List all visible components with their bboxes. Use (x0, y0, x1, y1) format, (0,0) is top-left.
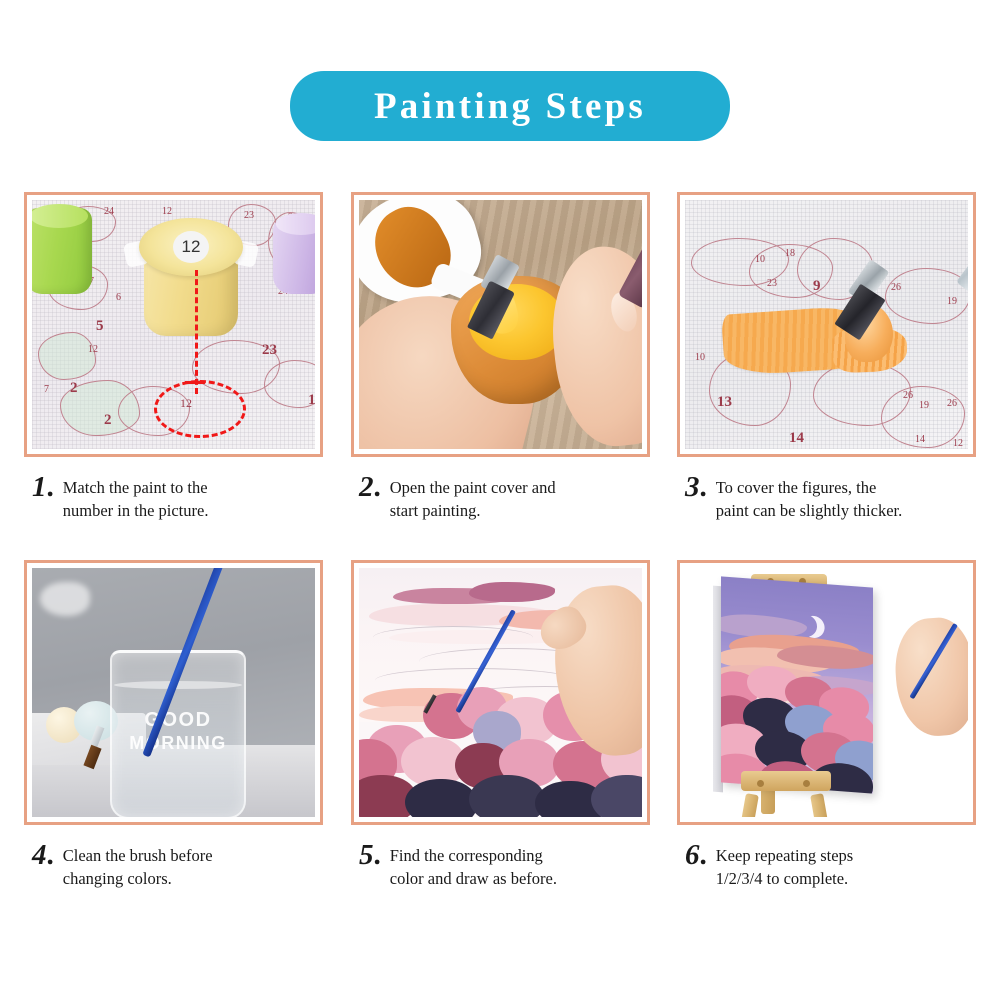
hand-holding-open-paint-pot-image (359, 200, 642, 449)
step-4-text: Clean the brush before changing colors. (63, 841, 213, 891)
step-4-photo-frame: GOOD MORNING (24, 560, 323, 825)
step-5-number: 5. (359, 841, 381, 870)
step-card-3: 10 18 23 9 20 26 19 10 20 13 14 26 19 26… (677, 192, 976, 523)
canvas-leaf-shape (38, 332, 96, 380)
step-2-text: Open the paint cover and start painting. (390, 473, 556, 523)
step-number-value: 6 (685, 839, 700, 871)
canvas-number: 26 (947, 398, 957, 409)
easel-canvas-shelf (741, 771, 831, 791)
canvas-number: 26 (903, 390, 913, 401)
canvas-number: 26 (891, 282, 901, 293)
step-2-caption: 2. Open the paint cover and start painti… (351, 473, 650, 523)
step-1-text: Match the paint to the number in the pic… (63, 473, 209, 523)
purple-paint-pot (273, 218, 315, 294)
painted-band (469, 582, 555, 602)
step-2-photo-frame (351, 192, 650, 457)
step-4-number: 4. (32, 841, 54, 870)
step-number-value: 4 (32, 839, 47, 871)
easel-screw (757, 780, 764, 787)
blossom-cluster (405, 779, 477, 817)
canvas-number: 9 (813, 278, 821, 295)
brush-in-glass-of-water-image: GOOD MORNING (32, 568, 315, 817)
step-6-number: 6. (685, 841, 707, 870)
step-1-photo-frame: 24 12 23 2 3 7 6 5 12 2 7 2 23 24 12 12 (24, 192, 323, 457)
canvas-number: 23 (767, 278, 777, 289)
step-number-value: 2 (359, 471, 374, 503)
step-card-5: 5. Find the corresponding color and draw… (351, 560, 650, 891)
canvas-number: 23 (262, 342, 277, 359)
step-number-value: 3 (685, 471, 700, 503)
blossom-cluster (469, 775, 545, 817)
step-number-dot: . (47, 471, 54, 503)
yellow-paint-pot: 12 (135, 218, 247, 338)
step-2-number: 2. (359, 473, 381, 502)
step-number-dot: . (374, 471, 381, 503)
step-card-1: 24 12 23 2 3 7 6 5 12 2 7 2 23 24 12 12 (24, 192, 323, 523)
canvas-number: 10 (755, 254, 765, 265)
step-card-6: 6. Keep repeating steps 1/2/3/4 to compl… (677, 560, 976, 891)
step-1-number: 1. (32, 473, 54, 502)
step-number-dot: . (700, 471, 707, 503)
step-5-photo-frame (351, 560, 650, 825)
canvas-number: 14 (789, 430, 804, 447)
brush-applying-orange-paint-image: 10 18 23 9 20 26 19 10 20 13 14 26 19 26… (685, 200, 968, 449)
canvas-number: 7 (44, 384, 49, 395)
step-1-caption: 1. Match the paint to the number in the … (24, 473, 323, 523)
step-card-2: 2. Open the paint cover and start painti… (351, 192, 650, 523)
step-5-caption: 5. Find the corresponding color and draw… (351, 841, 650, 891)
page-title-banner: Painting Steps (290, 71, 730, 141)
canvas-number: 14 (915, 434, 925, 445)
step-number-value: 1 (32, 471, 47, 503)
page-title: Painting Steps (374, 85, 646, 128)
step-4-caption: 4. Clean the brush before changing color… (24, 841, 323, 891)
background-blur-object (40, 582, 90, 616)
canvas-number: 19 (919, 400, 929, 411)
red-dashed-highlight-ellipse (154, 380, 246, 438)
canvas-number: 5 (96, 318, 104, 335)
glass-text-line-2: MORNING (112, 733, 244, 754)
red-dashed-pointer-line (195, 270, 198, 394)
canvas-number: 24 (104, 206, 114, 217)
hand-painting-cherry-blossom-canvas-image (359, 568, 642, 817)
step-6-text: Keep repeating steps 1/2/3/4 to complete… (716, 841, 853, 891)
canvas-number: 2 (104, 412, 112, 429)
step-3-photo-frame: 10 18 23 9 20 26 19 10 20 13 14 26 19 26… (677, 192, 976, 457)
step-number-dot: . (700, 839, 707, 871)
step-5-text: Find the corresponding color and draw as… (390, 841, 557, 891)
step-3-caption: 3. To cover the figures, the paint can b… (677, 473, 976, 523)
canvas-target-number: 12 (180, 396, 192, 411)
step-number-dot: . (47, 839, 54, 871)
finished-painting-on-easel-image (685, 568, 968, 817)
paint-pot-on-numbered-canvas-image: 24 12 23 2 3 7 6 5 12 2 7 2 23 24 12 12 (32, 200, 315, 449)
canvas-number: 12 (953, 438, 963, 449)
step-card-4: GOOD MORNING 4. Clean the brush before c… (24, 560, 323, 891)
step-3-text: To cover the figures, the paint can be s… (716, 473, 903, 523)
canvas-number: 12 (162, 206, 172, 217)
easel-screw (803, 780, 810, 787)
canvas-number: 2 (70, 380, 78, 397)
step-6-photo-frame (677, 560, 976, 825)
canvas-number: 19 (947, 296, 957, 307)
pot-number-label: 12 (173, 231, 209, 263)
canvas-outline (373, 626, 533, 649)
glass-text-line-1: GOOD (112, 709, 244, 732)
step-number-dot: . (374, 839, 381, 871)
canvas-number: 12 (88, 344, 98, 355)
finished-canvas (721, 576, 873, 793)
canvas-number: 6 (116, 292, 121, 303)
canvas-number: 13 (717, 394, 732, 411)
canvas-number: 12 (308, 392, 315, 409)
canvas-number: 18 (785, 248, 795, 259)
step-6-caption: 6. Keep repeating steps 1/2/3/4 to compl… (677, 841, 976, 891)
green-paint-pot (32, 208, 92, 294)
canvas-number: 10 (695, 352, 705, 363)
step-3-number: 3. (685, 473, 707, 502)
step-number-value: 5 (359, 839, 374, 871)
